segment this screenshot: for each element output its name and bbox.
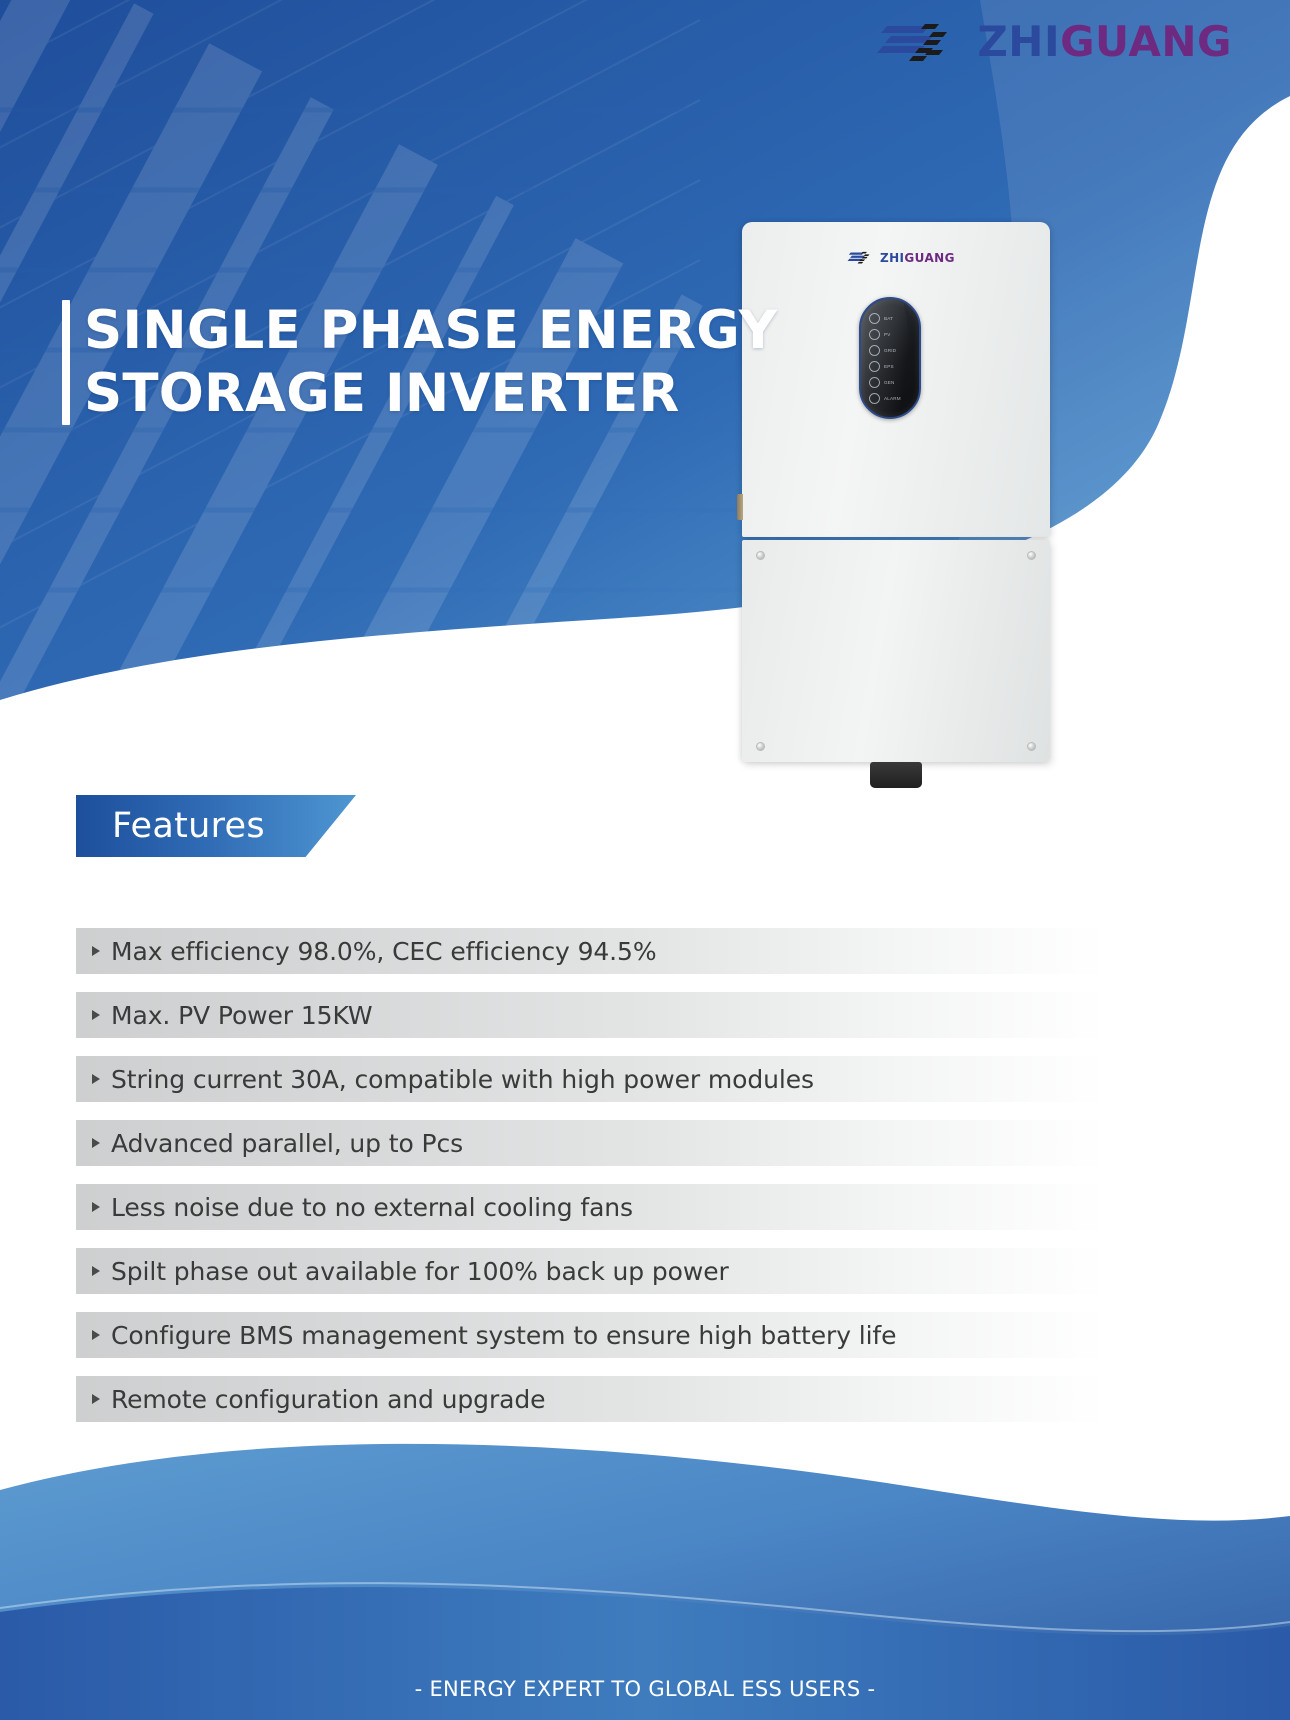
feature-text: Max. PV Power 15KW — [111, 1001, 372, 1030]
zhiguang-stripes-mark-icon — [877, 18, 963, 66]
feature-text: Spilt phase out available for 100% back … — [111, 1257, 729, 1286]
generator-icon — [869, 377, 880, 388]
brand-name-part1: ZHI — [977, 17, 1060, 66]
led-label-pv: PV — [884, 332, 891, 337]
led-indicator-bat: BAT — [869, 312, 919, 325]
led-indicator-pv: PV — [869, 328, 919, 341]
screw-icon — [1027, 742, 1036, 751]
list-item: Max efficiency 98.0%, CEC efficiency 94.… — [76, 928, 1106, 974]
list-item: Max. PV Power 15KW — [76, 992, 1106, 1038]
battery-icon — [869, 313, 880, 324]
alarm-warning-icon — [869, 393, 880, 404]
screw-icon — [1027, 551, 1036, 560]
list-item: String current 30A, compatible with high… — [76, 1056, 1106, 1102]
brand-name-part2: GUANG — [1060, 17, 1232, 66]
title-accent-bar — [62, 300, 70, 425]
brand-logo: ZHIGUANG — [877, 18, 1232, 66]
features-list: Max efficiency 98.0%, CEC efficiency 94.… — [76, 928, 1106, 1440]
led-indicator-grid: GRID — [869, 344, 919, 357]
feature-text: Configure BMS management system to ensur… — [111, 1321, 896, 1350]
feature-text: Less noise due to no external cooling fa… — [111, 1193, 633, 1222]
feature-text: Remote configuration and upgrade — [111, 1385, 545, 1414]
list-item: Spilt phase out available for 100% back … — [76, 1248, 1106, 1294]
product-logo-part2: GUANG — [904, 251, 954, 265]
side-connector — [737, 494, 743, 520]
triangle-bullet-icon — [92, 1266, 100, 1276]
triangle-bullet-icon — [92, 946, 100, 956]
triangle-bullet-icon — [92, 1330, 100, 1340]
led-indicator-gen: GEN — [869, 376, 919, 389]
screw-icon — [756, 742, 765, 751]
footer-tagline-bar: - ENERGY EXPERT TO GLOBAL ESS USERS - — [0, 1658, 1290, 1720]
title-text: SINGLE PHASE ENERGY STORAGE INVERTER — [84, 300, 777, 425]
list-item: Configure BMS management system to ensur… — [76, 1312, 1106, 1358]
feature-text: Advanced parallel, up to Pcs — [111, 1129, 463, 1158]
triangle-bullet-icon — [92, 1074, 100, 1084]
page-title: SINGLE PHASE ENERGY STORAGE INVERTER — [62, 300, 777, 425]
triangle-bullet-icon — [92, 1202, 100, 1212]
footer-tagline: - ENERGY EXPERT TO GLOBAL ESS USERS - — [415, 1677, 876, 1701]
features-heading: Features — [76, 806, 265, 846]
product-brand-logo: ZHIGUANG — [847, 250, 955, 265]
product-logo-part1: ZHI — [880, 251, 904, 265]
title-line-1: SINGLE PHASE ENERGY — [84, 300, 777, 363]
product-lower-enclosure — [742, 540, 1050, 762]
led-label-bat: BAT — [884, 316, 893, 321]
product-brand-wordmark: ZHIGUANG — [880, 251, 955, 265]
led-label-grid: GRID — [884, 348, 896, 353]
triangle-bullet-icon — [92, 1010, 100, 1020]
led-indicator-eps: EPS — [869, 360, 919, 373]
product-zhiguang-stripes-mark-icon — [847, 250, 875, 265]
brochure-page: ZHIGUANG SINGLE PHASE ENERGY STORAGE INV… — [0, 0, 1290, 1720]
title-line-2: STORAGE INVERTER — [84, 363, 777, 426]
list-item: Advanced parallel, up to Pcs — [76, 1120, 1106, 1166]
led-indicator-alarm: ALARM — [869, 392, 919, 405]
feature-text: Max efficiency 98.0%, CEC efficiency 94.… — [111, 937, 656, 966]
solar-panel-icon — [869, 329, 880, 340]
product-image: ZHIGUANG BAT PV GRID — [742, 222, 1050, 767]
triangle-bullet-icon — [92, 1138, 100, 1148]
led-label-alarm: ALARM — [884, 396, 901, 401]
list-item: Remote configuration and upgrade — [76, 1376, 1106, 1422]
triangle-bullet-icon — [92, 1394, 100, 1404]
product-upper-enclosure: ZHIGUANG BAT PV GRID — [742, 222, 1050, 537]
cable-conduit — [870, 762, 922, 788]
eps-icon — [869, 361, 880, 372]
grid-icon — [869, 345, 880, 356]
features-section-header: Features — [76, 795, 356, 857]
screw-icon — [756, 551, 765, 560]
feature-text: String current 30A, compatible with high… — [111, 1065, 814, 1094]
list-item: Less noise due to no external cooling fa… — [76, 1184, 1106, 1230]
led-label-eps: EPS — [884, 364, 894, 369]
led-indicator-panel: BAT PV GRID EPS GEN — [859, 297, 921, 419]
led-label-gen: GEN — [884, 380, 895, 385]
brand-wordmark: ZHIGUANG — [977, 21, 1232, 63]
